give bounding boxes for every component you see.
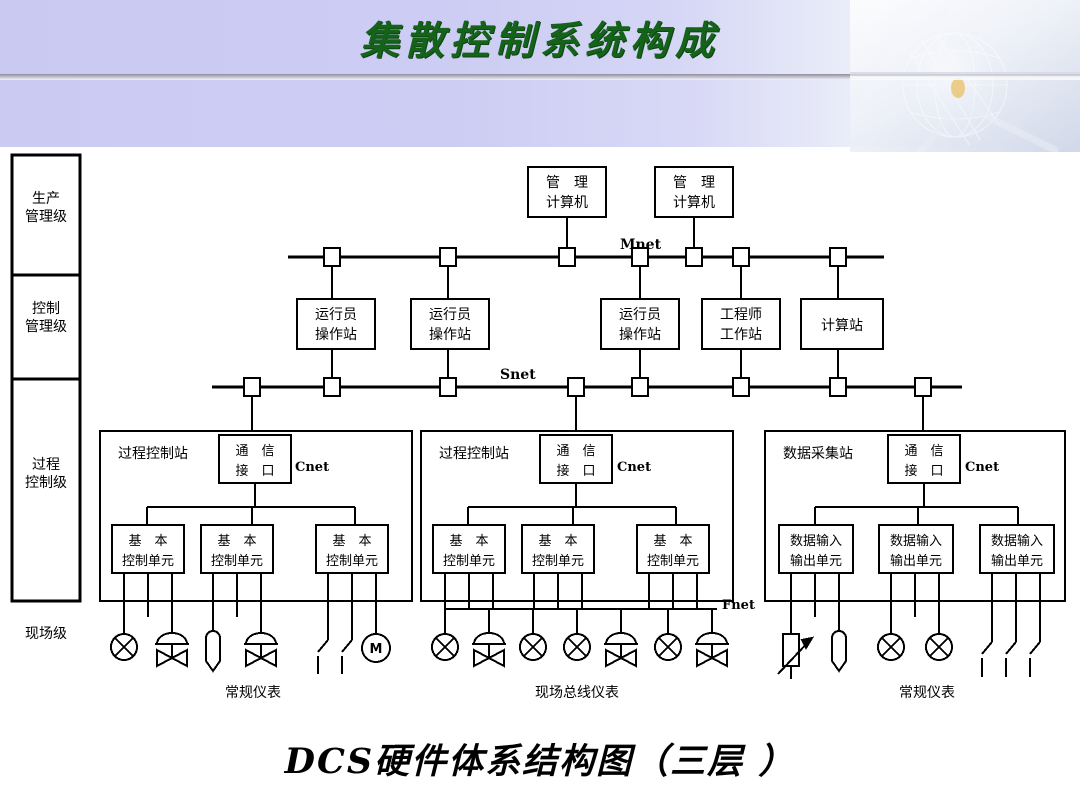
station-label-operator-1a: 运行员: [315, 307, 357, 323]
snet-label: Snet: [500, 367, 536, 383]
mnet-tap-4: [632, 248, 648, 266]
pcs1-unit-label-3b: 控制单元: [326, 554, 378, 569]
management-computer-label-1a: 管 理: [546, 175, 588, 191]
process-control-station-1-group: 过程控制站 通 信 接 口 Cnet 基 本 控制单元 基 本 控制单元: [100, 431, 412, 617]
control-valve-icon: [604, 609, 638, 666]
control-valve-icon: [244, 617, 278, 666]
pcs2-unit-label-3a: 基 本: [653, 534, 692, 549]
das-unit-label-3a: 数据输入: [991, 533, 1043, 549]
station-label-engineer-b: 工作站: [720, 327, 762, 343]
level-label-process-2: 控制级: [25, 475, 67, 491]
pcs2-cnet-label: Cnet: [617, 460, 651, 475]
level-label-field: 现场级: [25, 626, 67, 642]
dcs-architecture-diagram: 生产 管理级 控制 管理级 过程 控制级 现场级 管 理 计算机 管 理 计算机…: [0, 147, 1080, 727]
pcs1-comm-label-1: 通 信: [235, 444, 274, 459]
thermowell-icon: [206, 617, 220, 671]
das-unit-label-1b: 输出单元: [790, 553, 842, 569]
field-devices-left: M 常规仪表: [111, 617, 390, 701]
diagram-caption: DCS硬件体系结构图（三层 ）: [0, 733, 1080, 784]
pcs2-unit-label-1a: 基 本: [449, 534, 488, 549]
pcs1-unit-label-2a: 基 本: [217, 534, 256, 549]
motor-label: M: [370, 642, 383, 657]
field-legend-left: 常规仪表: [225, 685, 281, 701]
snet-tap-1: [244, 378, 260, 396]
transmitter-icon: [655, 609, 681, 660]
das-title: 数据采集站: [783, 445, 853, 462]
transmitter-icon: [564, 609, 590, 660]
das-comm-label-1: 通 信: [904, 444, 943, 459]
station-label-operator-3a: 运行员: [619, 307, 661, 323]
pcs1-unit-label-1a: 基 本: [128, 534, 167, 549]
field-legend-right: 常规仪表: [899, 685, 955, 701]
thermowell-icon: [832, 617, 846, 671]
pcs2-unit-label-3b: 控制单元: [647, 554, 699, 569]
control-valve-icon: [472, 609, 506, 666]
snet-tap-6: [733, 378, 749, 396]
pcs2-unit-label-1b: 控制单元: [443, 554, 495, 569]
das-cnet-label: Cnet: [965, 460, 999, 475]
pcs1-unit-label-1b: 控制单元: [122, 554, 174, 569]
mnet-tap-6: [733, 248, 749, 266]
snet-tap-2: [324, 378, 340, 396]
slide-root: 集散控制系统构成 生产 管理级 控制 管理级 过程 控制级 现场级 管 理 计算…: [0, 0, 1080, 810]
das-unit-label-2b: 输出单元: [890, 553, 942, 569]
mnet-tap-1: [324, 248, 340, 266]
transmitter-icon: [432, 609, 458, 660]
mnet-tap-5: [686, 248, 702, 266]
management-computer-label-1b: 计算机: [546, 195, 588, 211]
signal-wire-icon: [318, 617, 352, 674]
snet-tap-5: [632, 378, 648, 396]
pcs1-cnet-label: Cnet: [295, 460, 329, 475]
field-legend-middle: 现场总线仪表: [535, 685, 619, 701]
control-valve-icon: [155, 617, 189, 666]
station-label-operator-2b: 操作站: [429, 327, 471, 343]
field-devices-middle: Fnet: [432, 598, 755, 701]
transmitter-icon: [111, 617, 137, 660]
das-unit-label-3b: 输出单元: [991, 553, 1043, 569]
mnet-tap-2: [440, 248, 456, 266]
fnet-label: Fnet: [722, 598, 755, 613]
station-label-operator-1b: 操作站: [315, 327, 357, 343]
station-label-operator-2a: 运行员: [429, 307, 471, 323]
transmitter-icon: [878, 617, 904, 660]
process-control-station-2-group: 过程控制站 通 信 接 口 Cnet 基 本 控制单元 基 本 控制单元: [421, 431, 733, 609]
level-label-control-2: 管理级: [25, 319, 67, 335]
level-label-production-1: 生产: [32, 191, 60, 207]
station-label-compute: 计算站: [821, 318, 863, 334]
pcs2-comm-label-1: 通 信: [556, 444, 595, 459]
pcs1-unit-label-3a: 基 本: [332, 534, 371, 549]
management-computer-label-2b: 计算机: [673, 195, 715, 211]
level-label-production-2: 管理级: [25, 209, 67, 225]
transmitter-icon: [520, 609, 546, 660]
data-acquisition-station-group: 数据采集站 通 信 接 口 Cnet 数据输入 输出单元 数据输入 输出: [765, 431, 1065, 617]
level-label-process-1: 过程: [32, 457, 60, 473]
snet-tap-7: [830, 378, 846, 396]
management-computer-label-2a: 管 理: [673, 175, 715, 191]
control-valve-icon: [695, 609, 729, 666]
pcs2-unit-label-2a: 基 本: [538, 534, 577, 549]
station-label-operator-3b: 操作站: [619, 327, 661, 343]
signal-wire-icon: [982, 617, 1040, 677]
variable-resistor-icon: [778, 617, 812, 679]
station-label-engineer-a: 工程师: [720, 307, 762, 323]
snet-tap-8: [915, 378, 931, 396]
field-devices-right: 常规仪表: [778, 617, 1040, 701]
das-unit-label-2a: 数据输入: [890, 533, 942, 549]
pcs1-unit-label-2b: 控制单元: [211, 554, 263, 569]
snet-tap-3: [440, 378, 456, 396]
pcs2-comm-label-2: 接 口: [556, 463, 595, 479]
pcs1-comm-label-2: 接 口: [235, 463, 274, 479]
mnet-tap-3: [559, 248, 575, 266]
pcs2-title: 过程控制站: [439, 446, 509, 462]
page-title: 集散控制系统构成: [0, 10, 1080, 66]
das-unit-label-1a: 数据输入: [790, 533, 842, 549]
pcs2-unit-label-2b: 控制单元: [532, 554, 584, 569]
das-comm-label-2: 接 口: [904, 463, 943, 479]
transmitter-icon: [926, 617, 952, 660]
snet-tap-4: [568, 378, 584, 396]
level-label-control-1: 控制: [32, 301, 60, 317]
mnet-tap-7: [830, 248, 846, 266]
pcs1-title: 过程控制站: [118, 446, 188, 462]
